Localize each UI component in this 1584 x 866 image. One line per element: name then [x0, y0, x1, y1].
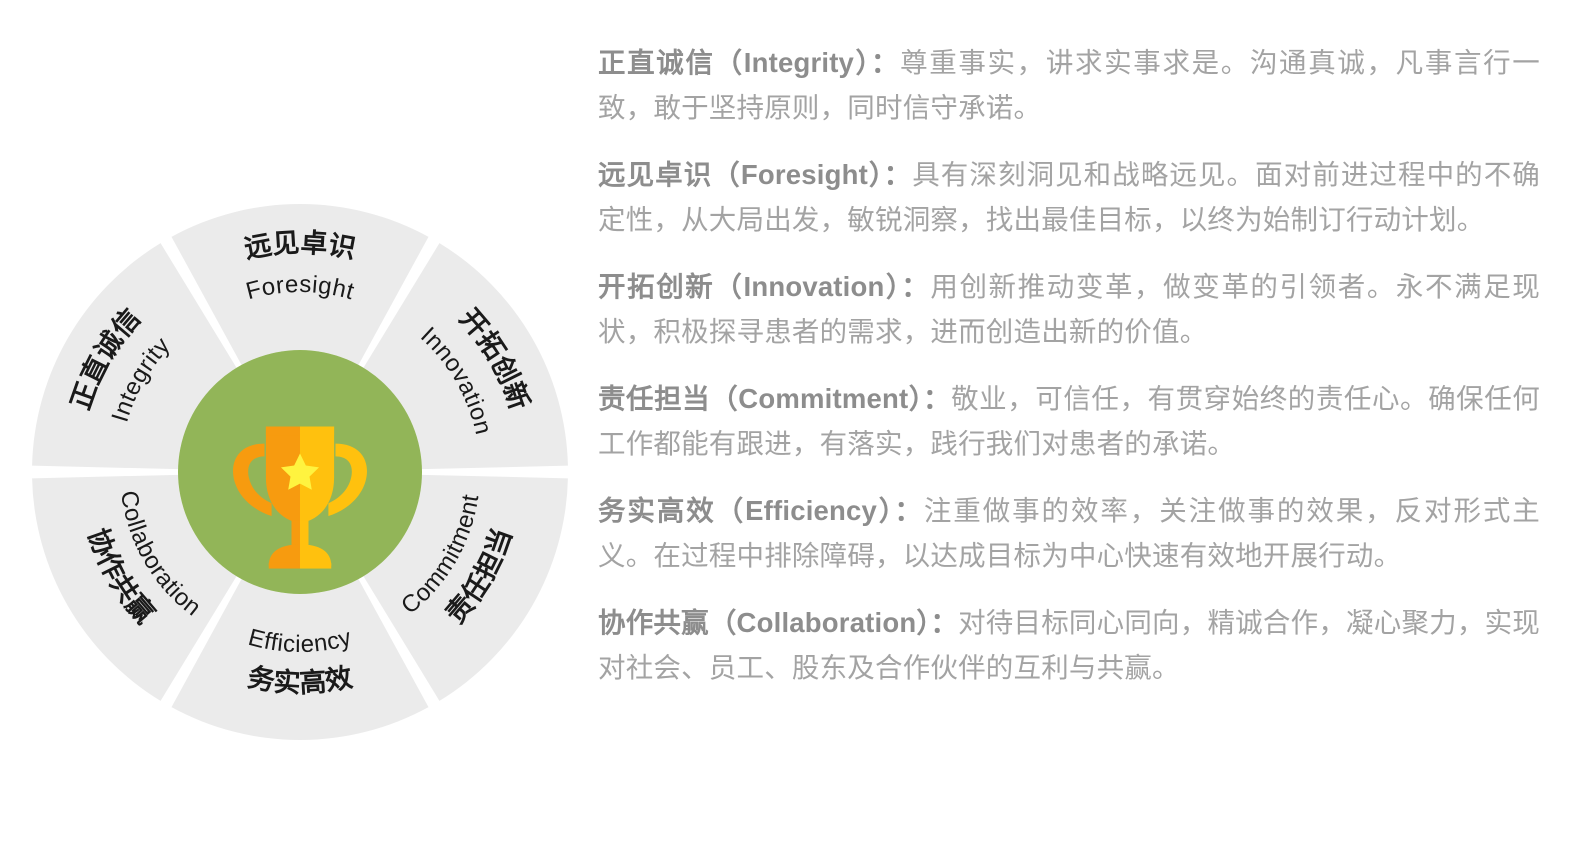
- values-description-list: 正直诚信（Integrity）：尊重事实，讲求实事求是。沟通真诚，凡事言行一致，…: [598, 40, 1540, 690]
- value-block-innovation: 开拓创新（Innovation）：用创新推动变革，做变革的引领者。永不满足现状，…: [598, 264, 1540, 354]
- values-wheel-diagram: 正直诚信Integrity远见卓识Foresight开拓创新Innovation…: [0, 0, 580, 866]
- value-title-collaboration: 协作共赢（Collaboration）：: [598, 607, 958, 638]
- value-block-commitment: 责任担当（Commitment）：敬业，可信任，有贯穿始终的责任心。确保任何工作…: [598, 376, 1540, 466]
- values-wheel-panel: 正直诚信Integrity远见卓识Foresight开拓创新Innovation…: [0, 0, 580, 866]
- value-block-integrity: 正直诚信（Integrity）：尊重事实，讲求实事求是。沟通真诚，凡事言行一致，…: [598, 40, 1540, 130]
- value-title-integrity: 正直诚信（Integrity）：: [598, 47, 900, 78]
- value-title-foresight: 远见卓识（Foresight）：: [598, 159, 912, 190]
- value-title-commitment: 责任担当（Commitment）：: [598, 383, 951, 414]
- core-values-infographic: 正直诚信Integrity远见卓识Foresight开拓创新Innovation…: [0, 0, 1584, 866]
- value-block-collaboration: 协作共赢（Collaboration）：对待目标同心同向，精诚合作，凝心聚力，实…: [598, 600, 1540, 690]
- value-block-efficiency: 务实高效（Efficiency）：注重做事的效率，关注做事的效果，反对形式主义。…: [598, 488, 1540, 578]
- value-title-innovation: 开拓创新（Innovation）：: [598, 271, 930, 302]
- value-title-efficiency: 务实高效（Efficiency）：: [598, 495, 924, 526]
- value-block-foresight: 远见卓识（Foresight）：具有深刻洞见和战略远见。面对前进过程中的不确定性…: [598, 152, 1540, 242]
